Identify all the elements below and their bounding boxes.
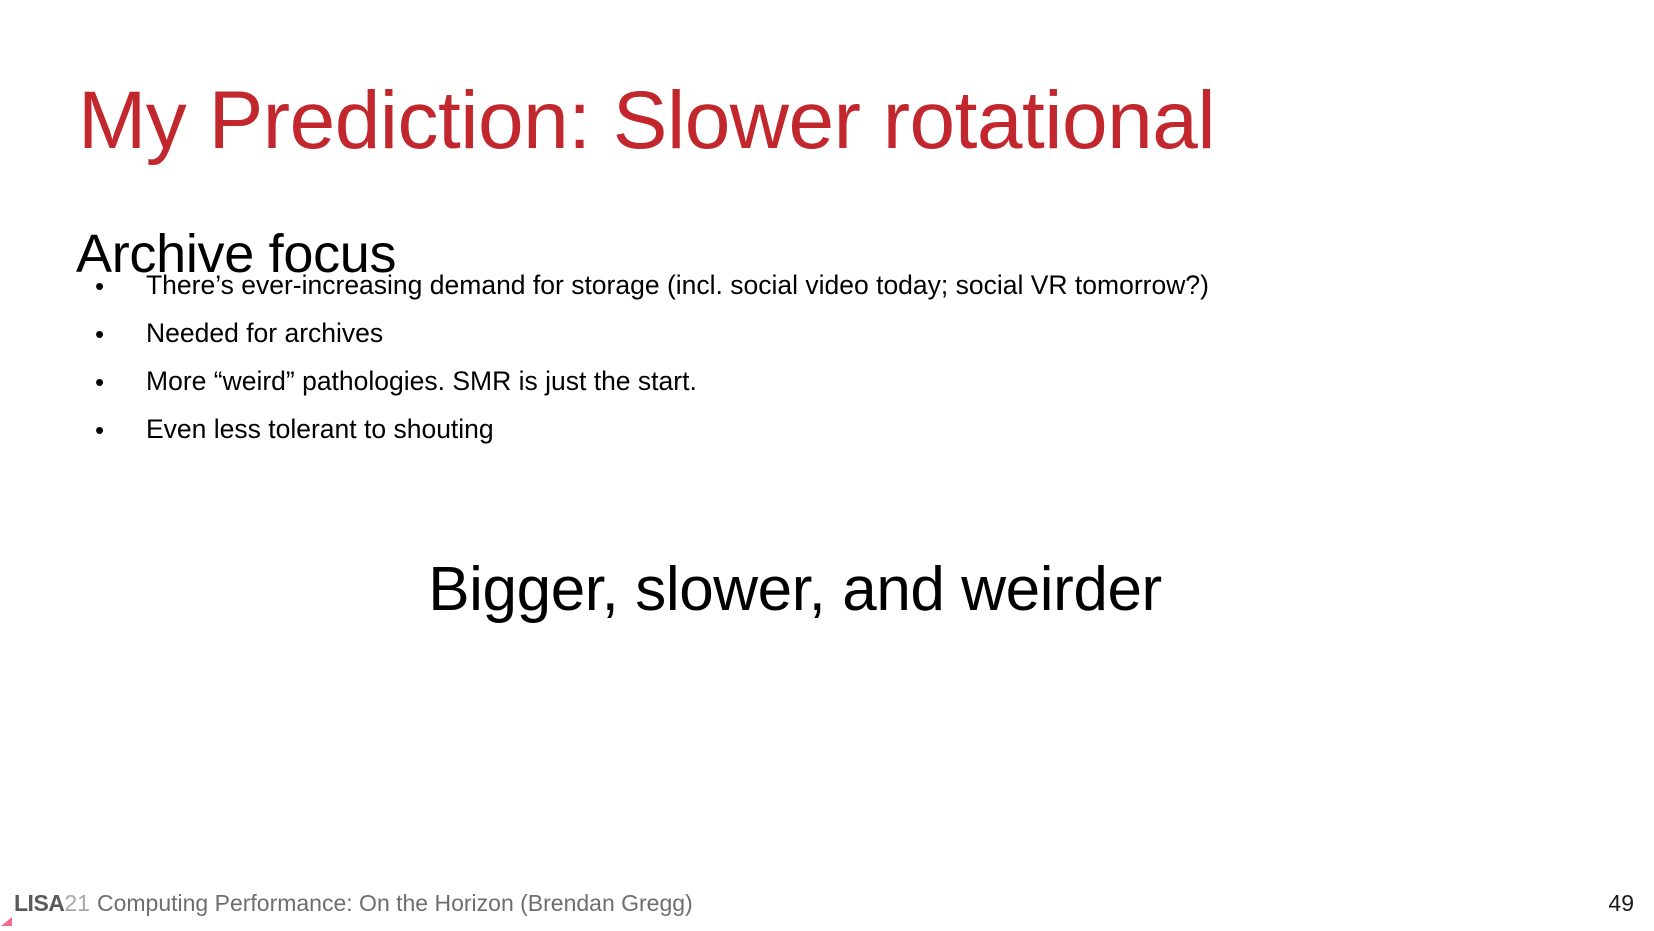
list-item-label: Even less tolerant to shouting bbox=[146, 414, 494, 446]
list-item-label: More “weird” pathologies. SMR is just th… bbox=[146, 366, 697, 398]
page-number: 49 bbox=[1608, 890, 1634, 917]
page-title: My Prediction: Slower rotational bbox=[78, 77, 1578, 166]
bullet-point-icon: • bbox=[95, 273, 104, 299]
slide-statement: Bigger, slower, and weirder bbox=[0, 556, 1590, 624]
lisa-logo-primary: LISA bbox=[14, 890, 64, 917]
bullet-point-icon: • bbox=[95, 369, 104, 395]
footer-branding: LISA 21 Computing Performance: On the Ho… bbox=[14, 890, 693, 917]
list-item-label: There’s ever-increasing demand for stora… bbox=[146, 270, 1209, 302]
list-item: • There’s ever-increasing demand for sto… bbox=[76, 262, 1476, 310]
triangle-mark-icon bbox=[1, 917, 12, 926]
list-item-label: Needed for archives bbox=[146, 318, 383, 350]
footer-title: Computing Performance: On the Horizon (B… bbox=[97, 890, 693, 917]
list-item: • Needed for archives bbox=[76, 310, 1476, 358]
bullet-point-icon: • bbox=[95, 321, 104, 347]
list-item: • Even less tolerant to shouting bbox=[76, 406, 1476, 454]
slide-footer: LISA 21 Computing Performance: On the Ho… bbox=[0, 871, 1654, 931]
lisa-logo: LISA 21 bbox=[14, 890, 90, 917]
bullet-list: • There’s ever-increasing demand for sto… bbox=[76, 262, 1476, 454]
lisa-logo-year: 21 bbox=[64, 890, 90, 917]
bullet-point-icon: • bbox=[95, 417, 104, 443]
slide-canvas: My Prediction: Slower rotational Archive… bbox=[0, 0, 1654, 931]
list-item: • More “weird” pathologies. SMR is just … bbox=[76, 358, 1476, 406]
